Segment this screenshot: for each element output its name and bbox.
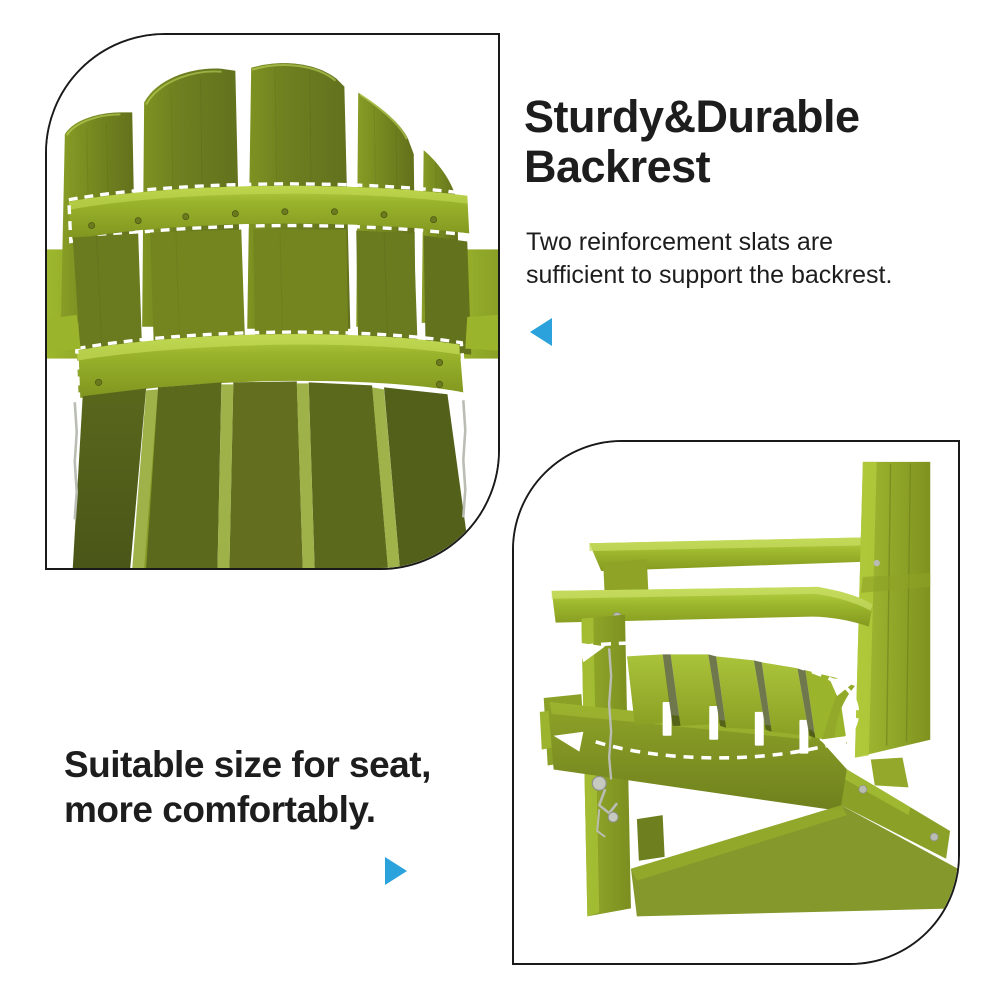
photo-panel-seat bbox=[512, 440, 960, 965]
headline-seat: Suitable size for seat, more comfortably… bbox=[64, 742, 514, 832]
photo-panel-backrest bbox=[45, 33, 500, 570]
triangle-right-icon bbox=[385, 857, 407, 885]
seat-photo bbox=[514, 442, 958, 963]
headline-backrest: Sturdy&Durable Backrest bbox=[524, 92, 984, 193]
arm-stub-right bbox=[465, 315, 498, 351]
chain-knob bbox=[592, 776, 606, 790]
subtext-backrest: Two reinforcement slats are sufficient t… bbox=[526, 226, 996, 291]
product-feature-collage: Sturdy&Durable Backrest Two reinforcemen… bbox=[0, 0, 1000, 1000]
triangle-left-icon bbox=[530, 318, 552, 346]
lower-back-slats bbox=[73, 381, 471, 568]
arm-stub-left bbox=[47, 315, 81, 353]
backrest-photo bbox=[47, 35, 498, 568]
